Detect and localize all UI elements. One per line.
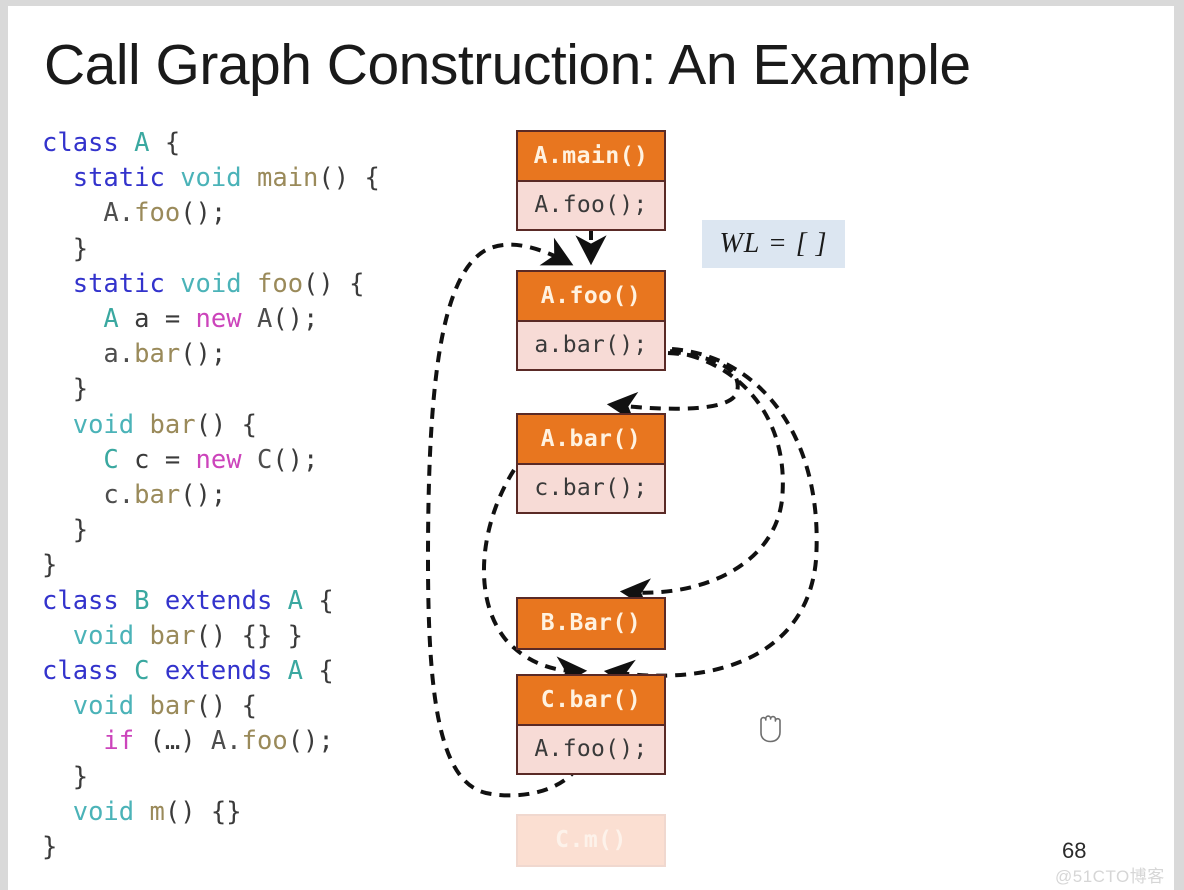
node-header-a-foo: A.foo() — [518, 272, 664, 320]
node-body-a-main: A.foo(); — [518, 180, 664, 229]
node-body-c-bar: A.foo(); — [518, 724, 664, 773]
node-body-a-bar: c.bar(); — [518, 463, 664, 512]
worklist-box: WL = [ ] — [702, 220, 845, 268]
callgraph-node-b-bar[interactable]: B.Bar() — [516, 597, 666, 650]
node-body-a-foo: a.bar(); — [518, 320, 664, 369]
node-header-a-bar: A.bar() — [518, 415, 664, 463]
callgraph-node-a-bar[interactable]: A.bar()c.bar(); — [516, 413, 666, 514]
watermark: @51CTO博客 — [1055, 862, 1165, 887]
node-header-c-bar: C.bar() — [518, 676, 664, 724]
node-header-a-main: A.main() — [518, 132, 664, 180]
callgraph-node-a-main[interactable]: A.main()A.foo(); — [516, 130, 666, 231]
node-header-b-bar: B.Bar() — [518, 599, 664, 648]
callgraph-node-a-foo[interactable]: A.foo()a.bar(); — [516, 270, 666, 371]
page-number: 68 — [1062, 838, 1086, 864]
node-header-c-m: C.m() — [518, 816, 664, 865]
callgraph-node-c-m[interactable]: C.m() — [516, 814, 666, 867]
slide-canvas: Call Graph Construction: An Example clas… — [0, 0, 1184, 890]
callgraph-node-c-bar[interactable]: C.bar()A.foo(); — [516, 674, 666, 775]
grab-hand-cursor — [752, 708, 786, 746]
